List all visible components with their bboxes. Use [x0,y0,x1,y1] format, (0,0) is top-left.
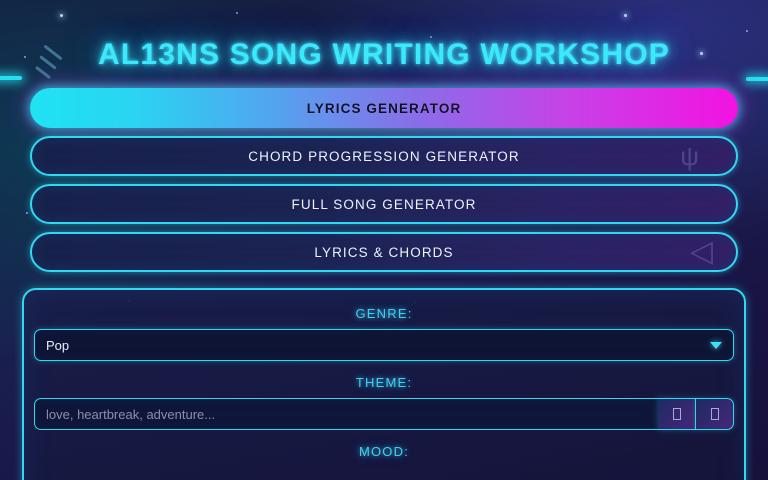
tab-label: CHORD PROGRESSION GENERATOR [248,149,519,164]
app-root: AL13NS SONG WRITING WORKSHOP LYRICS GENE… [0,0,768,480]
tab-chord-progression-generator[interactable]: ψ CHORD PROGRESSION GENERATOR [30,136,738,176]
mood-label: MOOD: [34,444,734,459]
genre-selected-value: Pop [46,338,69,353]
genre-field: GENRE: Pop [34,306,734,361]
chevron-down-icon [710,342,722,349]
neon-bar-right-icon [746,77,768,81]
theme-label: THEME: [34,375,734,390]
psi-glyph-icon: ψ [680,143,700,169]
theme-input[interactable] [34,398,658,430]
tab-lyrics-generator[interactable]: LYRICS GENERATOR [30,88,738,128]
tab-full-song-generator[interactable]: FULL SONG GENERATOR [30,184,738,224]
missing-glyph-icon [711,408,719,420]
mood-field: MOOD: [34,444,734,459]
neon-bar-left-icon [0,76,22,80]
genre-label: GENRE: [34,306,734,321]
page-title: AL13NS SONG WRITING WORKSHOP [0,38,768,72]
tab-label: FULL SONG GENERATOR [292,197,477,212]
missing-glyph-icon [673,408,681,420]
tab-label: LYRICS GENERATOR [307,101,462,116]
tab-lyrics-and-chords[interactable]: ◁ LYRICS & CHORDS [30,232,738,272]
tab-label: LYRICS & CHORDS [314,245,453,260]
theme-random-button[interactable] [658,398,696,430]
triangle-glyph-icon: ◁ [690,237,714,267]
tab-bar: LYRICS GENERATOR ψ CHORD PROGRESSION GEN… [30,88,738,280]
generator-form-panel: GENRE: Pop THEME: MOOD: [22,288,746,480]
theme-field: THEME: [34,375,734,430]
genre-select[interactable]: Pop [34,329,734,361]
theme-suggest-button[interactable] [696,398,734,430]
